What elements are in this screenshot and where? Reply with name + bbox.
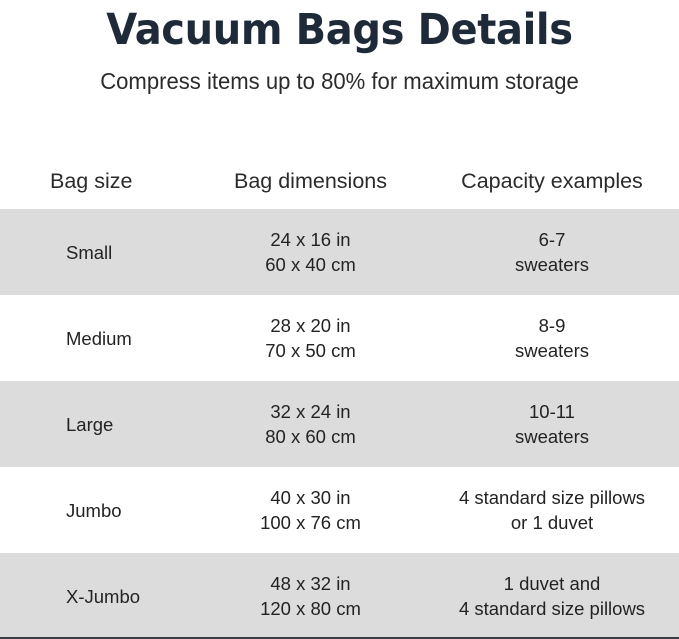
cell-bag-size: Large [0,381,208,467]
dimensions-metric: 80 x 60 cm [208,425,413,448]
capacity-line-2: 4 standard size pillows [425,597,679,620]
table-header-row: Bag size Bag dimensions Capacity example… [0,152,679,209]
cell-bag-size: X-Jumbo [0,553,208,639]
table-row: X-Jumbo 48 x 32 in 120 x 80 cm 1 duvet a… [0,553,679,639]
capacity-line-2: sweaters [425,339,679,362]
cell-bag-dimensions: 48 x 32 in 120 x 80 cm [208,553,417,639]
dimensions-metric: 70 x 50 cm [208,339,413,362]
capacity-line-1: 1 duvet and [425,572,679,595]
cell-capacity-examples: 6-7 sweaters [417,209,679,295]
header-block: Vacuum Bags Details Compress items up to… [0,0,679,95]
page-title: Vacuum Bags Details [24,4,655,56]
column-header-capacity-examples: Capacity examples [417,152,679,209]
table-header: Bag size Bag dimensions Capacity example… [0,152,679,209]
cell-bag-dimensions: 28 x 20 in 70 x 50 cm [208,295,417,381]
dimensions-metric: 120 x 80 cm [208,597,413,620]
capacity-line-1: 6-7 [425,228,679,251]
dimensions-imperial: 48 x 32 in [208,572,413,595]
dimensions-metric: 100 x 76 cm [208,511,413,534]
vacuum-bags-details-page: Vacuum Bags Details Compress items up to… [0,0,679,639]
table-body: Small 24 x 16 in 60 x 40 cm 6-7 sweaters… [0,209,679,639]
cell-bag-dimensions: 24 x 16 in 60 x 40 cm [208,209,417,295]
cell-capacity-examples: 4 standard size pillows or 1 duvet [417,467,679,553]
page-subtitle: Compress items up to 80% for maximum sto… [14,56,666,95]
vacuum-bags-spec-table: Bag size Bag dimensions Capacity example… [0,152,679,639]
capacity-line-1: 4 standard size pillows [425,486,679,509]
cell-bag-dimensions: 32 x 24 in 80 x 60 cm [208,381,417,467]
cell-bag-size: Jumbo [0,467,208,553]
capacity-line-1: 8-9 [425,314,679,337]
capacity-line-1: 10-11 [425,400,679,423]
dimensions-imperial: 32 x 24 in [208,400,413,423]
table-row: Small 24 x 16 in 60 x 40 cm 6-7 sweaters [0,209,679,295]
table-row: Large 32 x 24 in 80 x 60 cm 10-11 sweate… [0,381,679,467]
capacity-line-2: sweaters [425,425,679,448]
dimensions-metric: 60 x 40 cm [208,253,413,276]
cell-capacity-examples: 1 duvet and 4 standard size pillows [417,553,679,639]
column-header-bag-dimensions: Bag dimensions [208,152,417,209]
capacity-line-2: or 1 duvet [425,511,679,534]
dimensions-imperial: 28 x 20 in [208,314,413,337]
table-row: Medium 28 x 20 in 70 x 50 cm 8-9 sweater… [0,295,679,381]
capacity-line-2: sweaters [425,253,679,276]
cell-bag-size: Small [0,209,208,295]
cell-capacity-examples: 10-11 sweaters [417,381,679,467]
cell-bag-dimensions: 40 x 30 in 100 x 76 cm [208,467,417,553]
table-row: Jumbo 40 x 30 in 100 x 76 cm 4 standard … [0,467,679,553]
cell-capacity-examples: 8-9 sweaters [417,295,679,381]
cell-bag-size: Medium [0,295,208,381]
column-header-bag-size: Bag size [0,152,208,209]
dimensions-imperial: 24 x 16 in [208,228,413,251]
dimensions-imperial: 40 x 30 in [208,486,413,509]
